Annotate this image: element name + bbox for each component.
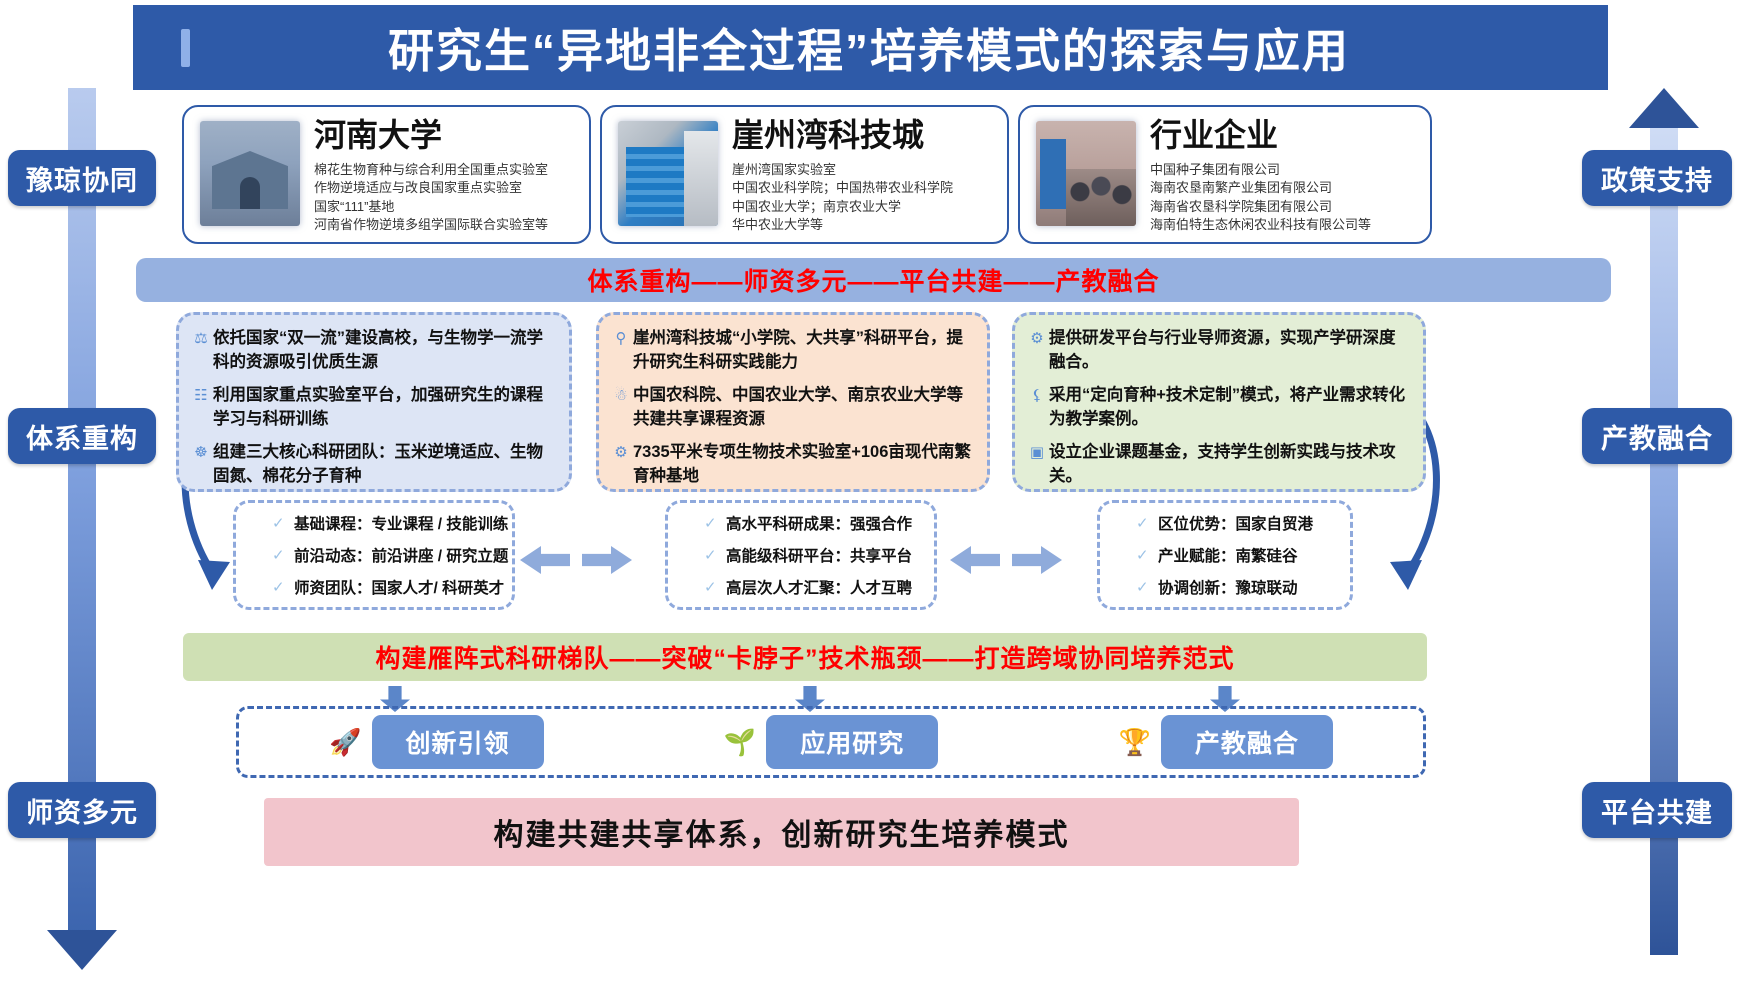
partner-card-body: 崖州湾科技城 崖州湾国家实验室 中国农业科学院；中国热带农业科学院 中国农业大学… — [730, 107, 1007, 234]
outcome-list-platform: ✓ 高水平科研成果：强强合作 ✓ 高能级科研平台：共享平台 ✓ 高层次人才汇聚：… — [665, 500, 937, 610]
feature-item-text: 提供研发平台与行业导师资源，实现产学研深度融合。 — [1049, 327, 1409, 375]
team-icon: ☷ — [189, 384, 213, 432]
check-icon: ✓ — [272, 514, 294, 532]
rocket-icon: 🚀 — [329, 727, 361, 758]
building-photo — [618, 121, 718, 226]
microscope-icon: ⚲ — [609, 327, 633, 375]
page-title-bar: 研究生“异地非全过程”培养模式的探索与应用 — [133, 5, 1608, 90]
results-row: 🚀 创新引领 🌱 应用研究 🏆 产教融合 — [236, 706, 1426, 778]
result-cell: 🏆 产教融合 — [1028, 715, 1423, 769]
check-icon: ✓ — [1136, 546, 1158, 564]
left-flow-arrow-head — [47, 930, 117, 970]
list-item: ✓ 师资团队：国家人才/ 科研英才 — [272, 576, 512, 598]
arrow-right-icon — [582, 546, 632, 574]
right-flow-arrow-head — [1629, 88, 1699, 128]
partner-card-line: 海南农垦南繁产业集团有限公司 — [1150, 179, 1420, 197]
feature-item-text: 利用国家重点实验室平台，加强研究生的课程学习与科研训练 — [213, 384, 555, 432]
strategy-strap-blue-text: 体系重构——师资多元——平台共建——产教融合 — [587, 262, 1159, 298]
list-item-label: 基础课程：专业课程 / 技能训练 — [294, 512, 508, 534]
result-cell: 🚀 创新引领 — [239, 715, 634, 769]
partner-card-line: 华中农业大学等 — [732, 216, 997, 234]
gate-photo — [200, 121, 300, 226]
partner-card-henan-university: 河南大学 棉花生物育种与综合利用全国重点实验室 作物逆境适应与改良国家重点实验室… — [182, 105, 591, 244]
partner-card-line: 中国农业科学院；中国热带农业科学院 — [732, 179, 997, 197]
feature-panel-industry-education: ⚙ 提供研发平台与行业导师资源，实现产学研深度融合。 ⚸ 采用“定向育种+技术定… — [1012, 312, 1426, 492]
list-item-label: 师资团队：国家人才/ 科研英才 — [294, 576, 504, 598]
check-icon: ✓ — [1136, 578, 1158, 596]
handshake-icon: ☸ — [189, 441, 213, 489]
partner-card-yazhouwan: 崖州湾科技城 崖州湾国家实验室 中国农业科学院；中国热带农业科学院 中国农业大学… — [600, 105, 1009, 244]
flask-icon: ⚙ — [609, 441, 633, 489]
partner-card-line: 作物逆境适应与改良国家重点实验室 — [314, 179, 579, 197]
list-item-label: 区位优势：国家自贸港 — [1158, 512, 1313, 534]
partner-card-line: 中国种子集团有限公司 — [1150, 161, 1420, 179]
dna-icon: ⚖ — [189, 327, 213, 375]
side-label-right-1: 政策支持 — [1582, 150, 1732, 206]
list-item-label: 协调创新：豫琼联动 — [1158, 576, 1298, 598]
side-label-left-2: 体系重构 — [8, 408, 156, 464]
side-label-right-3: 平台共建 — [1582, 782, 1732, 838]
side-label-left-3: 师资多元 — [8, 782, 156, 838]
result-label: 创新引领 — [372, 715, 544, 769]
outcome-list-industry: ✓ 区位优势：国家自贸港 ✓ 产业赋能：南繁硅谷 ✓ 协调创新：豫琼联动 — [1097, 500, 1353, 610]
gears-icon: ⚙ — [1025, 327, 1049, 375]
strategy-strap-green: 构建雁阵式科研梯队——突破“卡脖子”技术瓶颈——打造跨域协同培养范式 — [183, 633, 1427, 681]
list-item-label: 高能级科研平台：共享平台 — [726, 544, 912, 566]
partner-card-industry: 行业企业 中国种子集团有限公司 海南农垦南繁产业集团有限公司 海南省农垦科学院集… — [1018, 105, 1432, 244]
meeting-photo — [1036, 121, 1136, 226]
feature-item: ⚖ 依托国家“双一流”建设高校，与生物学一流学科的资源吸引优质生源 — [189, 327, 555, 375]
partner-card-title: 行业企业 — [1150, 119, 1420, 153]
partner-card-title: 崖州湾科技城 — [732, 119, 997, 153]
feature-item-text: 设立企业课题基金，支持学生创新实践与技术攻关。 — [1049, 441, 1409, 489]
list-item: ✓ 协调创新：豫琼联动 — [1136, 576, 1350, 598]
footer-banner-text: 构建共建共享体系，创新研究生培养模式 — [494, 810, 1070, 854]
partner-card-line: 崖州湾国家实验室 — [732, 161, 997, 179]
partner-card-body: 行业企业 中国种子集团有限公司 海南农垦南繁产业集团有限公司 海南省农垦科学院集… — [1148, 107, 1430, 234]
arrow-left-icon — [520, 546, 570, 574]
list-item: ✓ 高层次人才汇聚：人才互聘 — [704, 576, 934, 598]
list-item-label: 高层次人才汇聚：人才互聘 — [726, 576, 912, 598]
result-label: 应用研究 — [766, 715, 938, 769]
feature-panel-system-reconstruction: ⚖ 依托国家“双一流”建设高校，与生物学一流学科的资源吸引优质生源 ☷ 利用国家… — [176, 312, 572, 492]
partner-card-title: 河南大学 — [314, 119, 579, 153]
feature-item: ☃ 中国农科院、中国农业大学、南京农业大学等共建共享课程资源 — [609, 384, 973, 432]
feature-item-text: 中国农科院、中国农业大学、南京农业大学等共建共享课程资源 — [633, 384, 973, 432]
feature-item: ☷ 利用国家重点实验室平台，加强研究生的课程学习与科研训练 — [189, 384, 555, 432]
feature-item-text: 依托国家“双一流”建设高校，与生物学一流学科的资源吸引优质生源 — [213, 327, 555, 375]
sprout-icon: 🌱 — [724, 727, 756, 758]
feature-item: ▣ 设立企业课题基金，支持学生创新实践与技术攻关。 — [1025, 441, 1409, 489]
check-icon: ✓ — [704, 546, 726, 564]
list-item: ✓ 高水平科研成果：强强合作 — [704, 512, 934, 534]
list-item: ✓ 基础课程：专业课程 / 技能训练 — [272, 512, 512, 534]
side-label-right-2: 产教融合 — [1582, 408, 1732, 464]
strategy-strap-blue: 体系重构——师资多元——平台共建——产教融合 — [136, 258, 1611, 302]
arrow-right-icon — [1012, 546, 1062, 574]
list-item: ✓ 前沿动态：前沿讲座 / 研究立题 — [272, 544, 512, 566]
feature-item-text: 7335平米专项生物技术实验室+106亩现代南繁育种基地 — [633, 441, 973, 489]
title-accent-bar — [181, 29, 190, 67]
outcome-list-system: ✓ 基础课程：专业课程 / 技能训练 ✓ 前沿动态：前沿讲座 / 研究立题 ✓ … — [233, 500, 515, 610]
footer-banner: 构建共建共享体系，创新研究生培养模式 — [264, 798, 1299, 866]
trophy-icon: 🏆 — [1118, 727, 1150, 758]
partner-card-line: 海南伯特生态休闲农业科技有限公司等 — [1150, 216, 1420, 234]
check-icon: ✓ — [1136, 514, 1158, 532]
partner-card-lines: 中国种子集团有限公司 海南农垦南繁产业集团有限公司 海南省农垦科学院集团有限公司… — [1150, 161, 1420, 235]
partner-card-lines: 崖州湾国家实验室 中国农业科学院；中国热带农业科学院 中国农业大学；南京农业大学… — [732, 161, 997, 235]
side-label-left-1: 豫琼协同 — [8, 150, 156, 206]
list-item-label: 产业赋能：南繁硅谷 — [1158, 544, 1298, 566]
partner-card-line: 海南省农垦科学院集团有限公司 — [1150, 198, 1420, 216]
partner-card-line: 中国农业大学；南京农业大学 — [732, 198, 997, 216]
result-cell: 🌱 应用研究 — [634, 715, 1029, 769]
infographic-stage: 研究生“异地非全过程”培养模式的探索与应用 豫琼协同 体系重构 师资多元 政策支… — [0, 0, 1740, 993]
sprout-icon: ⚸ — [1025, 384, 1049, 432]
partner-card-line: 河南省作物逆境多组学国际联合实验室等 — [314, 216, 579, 234]
arrow-left-icon — [950, 546, 1000, 574]
feature-item-text: 崖州湾科技城“小学院、大共享”科研平台，提升研究生科研实践能力 — [633, 327, 973, 375]
list-item: ✓ 产业赋能：南繁硅谷 — [1136, 544, 1350, 566]
feature-item-text: 组建三大核心科研团队：玉米逆境适应、生物固氮、棉花分子育种 — [213, 441, 555, 489]
list-item: ✓ 高能级科研平台：共享平台 — [704, 544, 934, 566]
bidirectional-arrow-left — [520, 542, 636, 578]
check-icon: ✓ — [704, 578, 726, 596]
feature-item: ⚲ 崖州湾科技城“小学院、大共享”科研平台，提升研究生科研实践能力 — [609, 327, 973, 375]
partner-card-lines: 棉花生物育种与综合利用全国重点实验室 作物逆境适应与改良国家重点实验室 国家“1… — [314, 161, 579, 235]
result-label: 产教融合 — [1161, 715, 1333, 769]
check-icon: ✓ — [272, 578, 294, 596]
partner-card-line: 国家“111”基地 — [314, 198, 579, 216]
feature-panel-platform-cobuilding: ⚲ 崖州湾科技城“小学院、大共享”科研平台，提升研究生科研实践能力 ☃ 中国农科… — [596, 312, 990, 492]
check-icon: ✓ — [704, 514, 726, 532]
feature-item: ⚙ 7335平米专项生物技术实验室+106亩现代南繁育种基地 — [609, 441, 973, 489]
feature-item: ⚙ 提供研发平台与行业导师资源，实现产学研深度融合。 — [1025, 327, 1409, 375]
feature-item: ☸ 组建三大核心科研团队：玉米逆境适应、生物固氮、棉花分子育种 — [189, 441, 555, 489]
partner-card-body: 河南大学 棉花生物育种与综合利用全国重点实验室 作物逆境适应与改良国家重点实验室… — [312, 107, 589, 234]
strategy-strap-green-text: 构建雁阵式科研梯队——突破“卡脖子”技术瓶颈——打造跨域协同培养范式 — [375, 639, 1234, 675]
feature-item-text: 采用“定向育种+技术定制”模式，将产业需求转化为教学案例。 — [1049, 384, 1409, 432]
partner-card-line: 棉花生物育种与综合利用全国重点实验室 — [314, 161, 579, 179]
user-plus-icon: ☃ — [609, 384, 633, 432]
feature-item: ⚸ 采用“定向育种+技术定制”模式，将产业需求转化为教学案例。 — [1025, 384, 1409, 432]
document-icon: ▣ — [1025, 441, 1049, 489]
check-icon: ✓ — [272, 546, 294, 564]
list-item-label: 前沿动态：前沿讲座 / 研究立题 — [294, 544, 508, 566]
bidirectional-arrow-right — [950, 542, 1066, 578]
list-item: ✓ 区位优势：国家自贸港 — [1136, 512, 1350, 534]
list-item-label: 高水平科研成果：强强合作 — [726, 512, 912, 534]
page-title: 研究生“异地非全过程”培养模式的探索与应用 — [190, 15, 1548, 81]
